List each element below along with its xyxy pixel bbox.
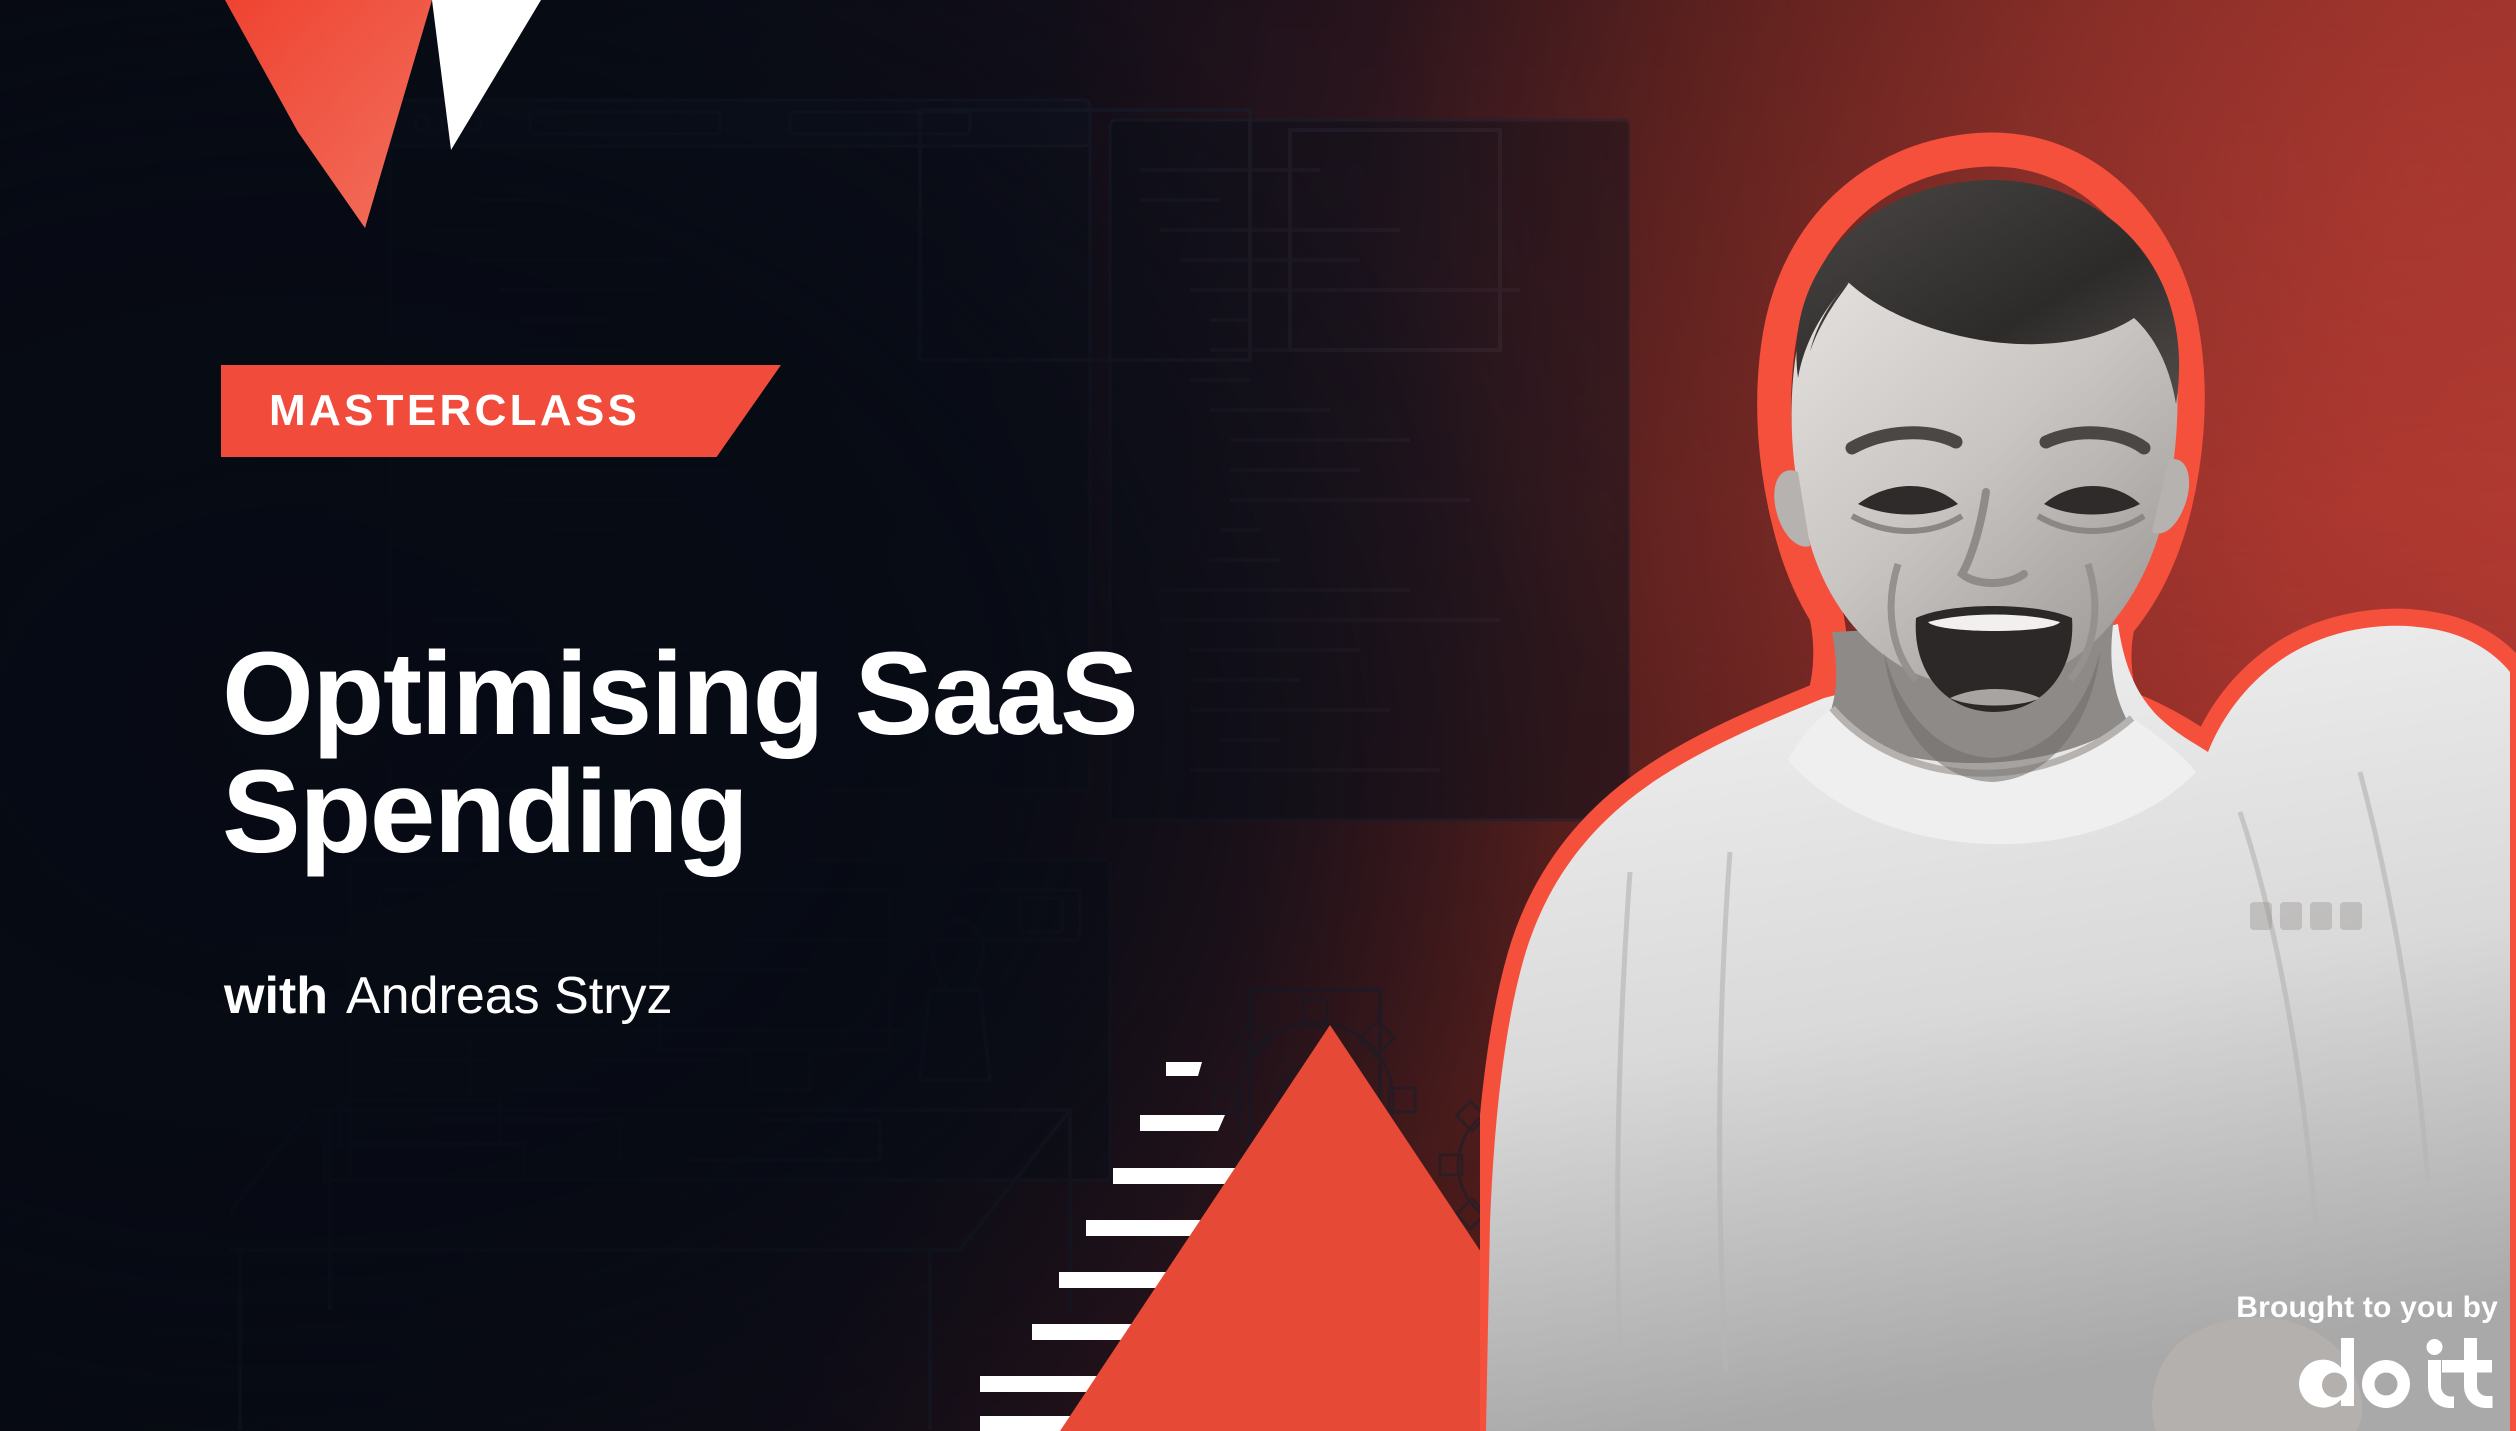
masterclass-banner: MASTERCLASS Optimising SaaS Spending wit… bbox=[0, 0, 2516, 1431]
speaker-portrait bbox=[1480, 112, 2516, 1431]
page-title-line-1: Optimising SaaS bbox=[222, 635, 1282, 753]
page-title: Optimising SaaS Spending bbox=[222, 635, 1282, 871]
speaker-name: Andreas Stryz bbox=[346, 967, 673, 1025]
page-title-line-2: Spending bbox=[222, 753, 1282, 871]
brand-block: Brought to you by bbox=[2202, 1291, 2502, 1413]
white-triangle-shape bbox=[432, 0, 541, 150]
masterclass-badge: MASTERCLASS bbox=[221, 365, 781, 457]
red-chevron-shape bbox=[225, 0, 432, 228]
masterclass-badge-label: MASTERCLASS bbox=[269, 389, 640, 433]
brought-to-you-by-label: Brought to you by bbox=[2202, 1291, 2502, 1324]
doit-logo[interactable] bbox=[2296, 1336, 2502, 1408]
speaker-prefix: with bbox=[224, 967, 328, 1025]
speaker-credit: withAndreas Stryz bbox=[224, 968, 673, 1025]
chevron-decoration bbox=[0, 0, 700, 300]
